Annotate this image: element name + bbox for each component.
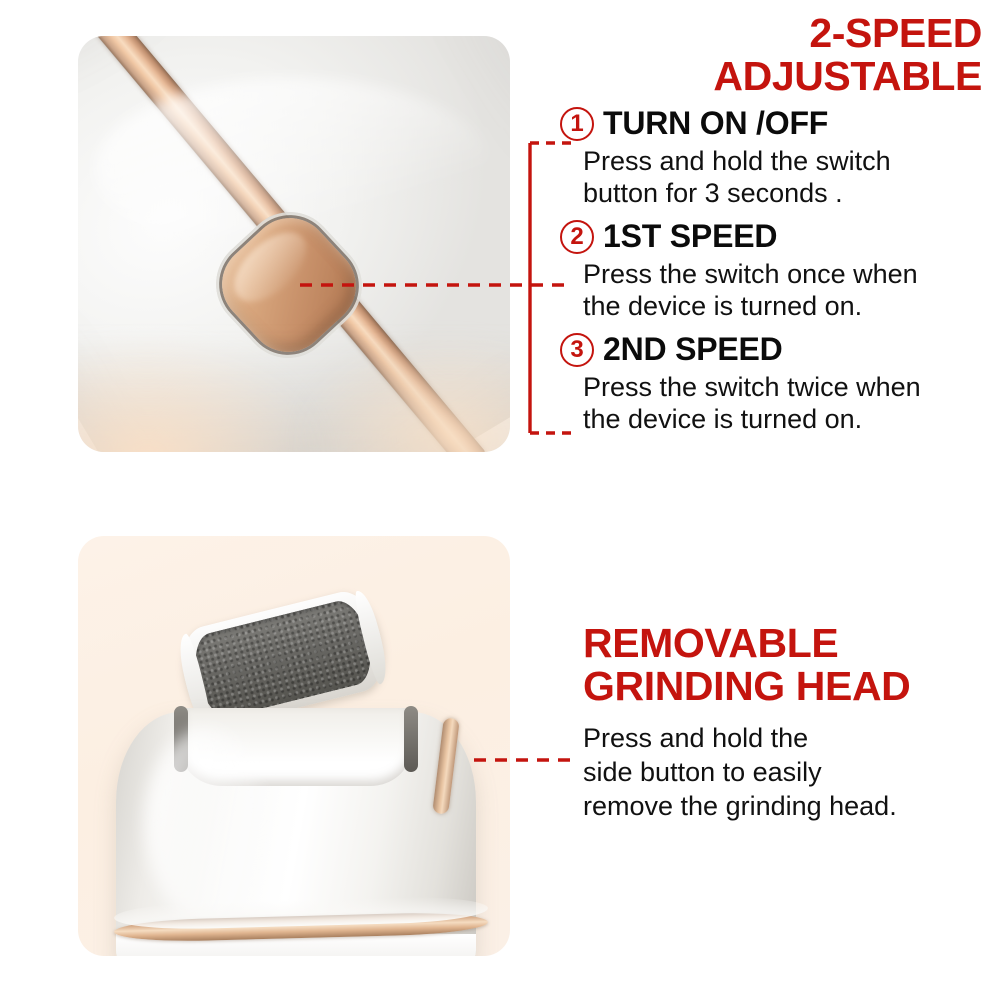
warm-glow-bottom-right [294, 336, 510, 452]
step-number-badge-3: 3 [560, 333, 594, 367]
device-base-body [116, 712, 476, 956]
grinding-head-body-text: Press and hold the side button to easily… [583, 721, 998, 823]
step-number-badge-1: 1 [560, 107, 594, 141]
step-row-2: 2 1ST SPEED [560, 220, 990, 254]
mount-prong-right [404, 706, 418, 772]
base-highlight-sheen [145, 728, 267, 921]
roller-grit-surface [188, 596, 378, 722]
speed-instructions-panel: 2-SPEED ADJUSTABLE 1 TURN ON /OFF Press … [560, 12, 990, 435]
step-title-3: 2ND SPEED [603, 333, 783, 367]
step-row-1: 1 TURN ON /OFF [560, 107, 990, 141]
grinding-head-panel: REMOVABLE GRINDING HEAD Press and hold t… [583, 622, 998, 823]
step-row-3: 3 2ND SPEED [560, 333, 990, 367]
speed-headline-line1: 2-SPEED [560, 12, 990, 55]
step-title-2: 1ST SPEED [603, 220, 777, 254]
device-power-button-photo [78, 36, 510, 452]
grinding-head-headline-line2: GRINDING HEAD [583, 665, 998, 708]
removable-grinding-head-photo [78, 536, 510, 956]
step-body-1: Press and hold the switch button for 3 s… [583, 146, 990, 210]
step-number-badge-2: 2 [560, 220, 594, 254]
grinding-head-headline-line1: REMOVABLE [583, 622, 998, 665]
step-body-2: Press the switch once when the device is… [583, 259, 990, 323]
infographic-page: 2-SPEED ADJUSTABLE 1 TURN ON /OFF Press … [0, 0, 1000, 1000]
side-release-button [432, 717, 460, 814]
speed-headline-line2: ADJUSTABLE [560, 55, 990, 98]
warm-glow-bottom-left [78, 336, 329, 452]
step-title-1: TURN ON /OFF [603, 107, 828, 141]
step-body-3: Press the switch twice when the device i… [583, 372, 990, 436]
